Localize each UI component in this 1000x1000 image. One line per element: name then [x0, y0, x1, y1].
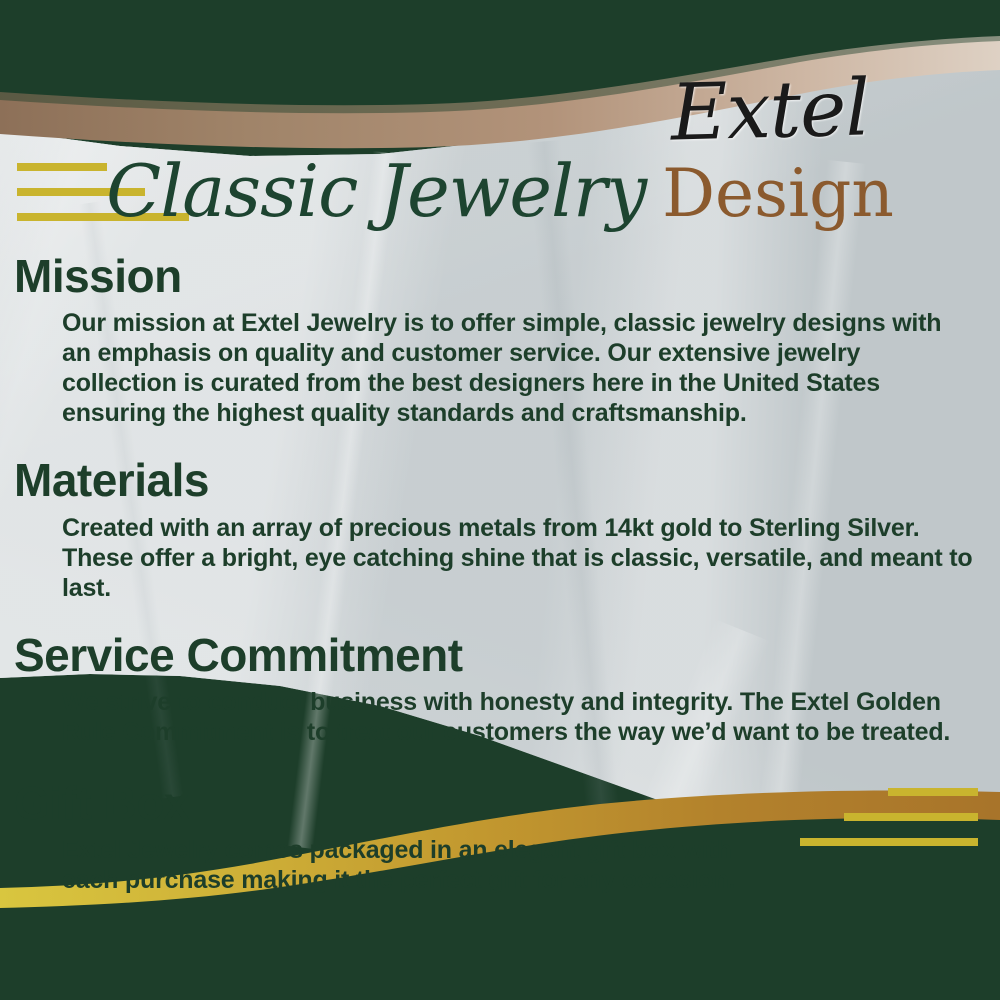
- section-body: Extel Jewelry comes packaged in an elega…: [62, 835, 782, 895]
- section-heading: Mission: [14, 252, 1000, 300]
- page-title: Classic JewelryDesign: [0, 155, 1000, 227]
- gold-line: [844, 813, 978, 821]
- section-body: We strive to conduct business with hones…: [62, 687, 974, 747]
- section-materials: Materials Created with an array of preci…: [0, 456, 1000, 602]
- section-mission: Mission Our mission at Extel Jewelry is …: [0, 252, 1000, 428]
- page-title-accent: Design: [662, 155, 894, 232]
- section-service-commitment: Service Commitment We strive to conduct …: [0, 631, 1000, 747]
- section-body: Our mission at Extel Jewelry is to offer…: [62, 308, 974, 428]
- brand-wordmark: Extel: [599, 68, 941, 155]
- section-body: Created with an array of precious metals…: [62, 513, 974, 603]
- section-heading: Service Commitment: [14, 631, 1000, 679]
- poster-canvas: Extel Classic JewelryDesign Mission Our …: [0, 0, 1000, 1000]
- gold-line: [888, 788, 978, 796]
- gold-lines-bottom-right: [800, 788, 978, 863]
- gold-line: [800, 838, 978, 846]
- page-title-main: Classic Jewelry: [106, 149, 646, 233]
- section-heading: Materials: [14, 456, 1000, 504]
